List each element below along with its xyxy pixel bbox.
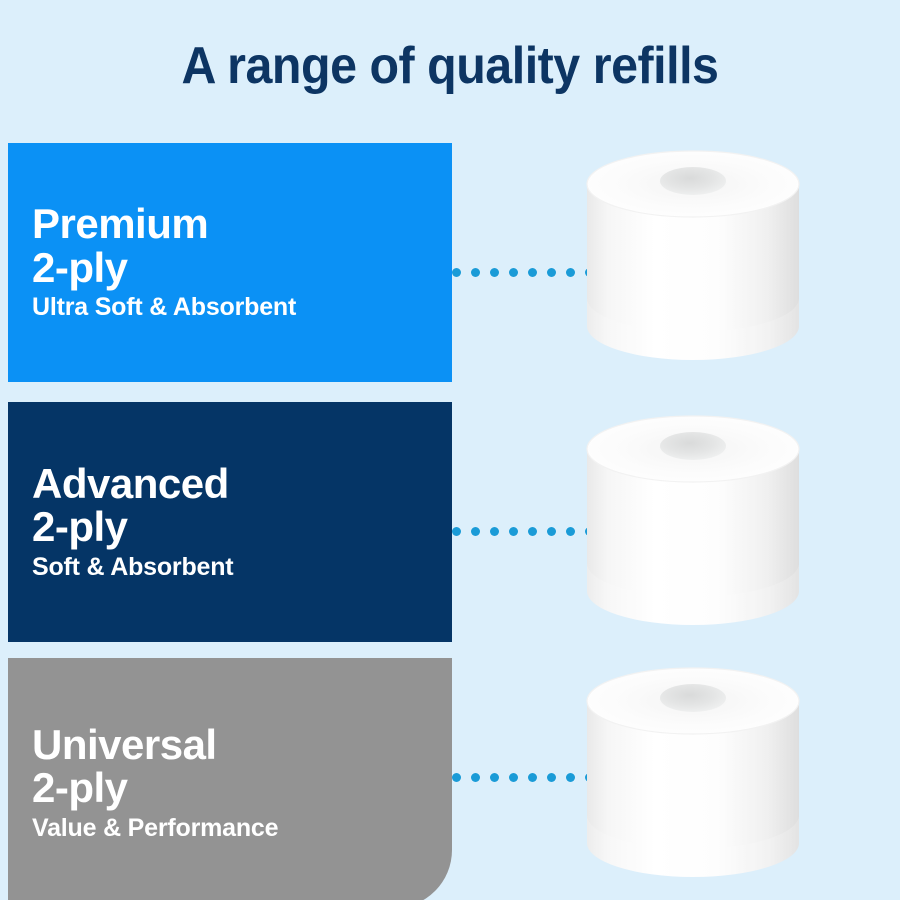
paper-roll-icon-advanced [585,413,801,629]
connector-dot-icon [509,527,518,536]
connector-dots-universal [452,773,594,782]
connector-dot-icon [566,268,575,277]
connector-dots-premium [452,268,594,277]
connector-dot-icon [528,268,537,277]
tier-panel-universal: Universal 2-ply Value & Performance [8,658,452,900]
connector-dot-icon [490,773,499,782]
connector-dot-icon [509,773,518,782]
tier-ply-premium: 2-ply [32,246,452,290]
page-title: A range of quality refills [32,36,869,96]
connector-dots-advanced [452,527,594,536]
connector-dot-icon [528,773,537,782]
connector-dot-icon [490,527,499,536]
paper-roll-icon-universal [585,665,801,881]
connector-dot-icon [471,268,480,277]
connector-dot-icon [547,527,556,536]
connector-dot-icon [547,268,556,277]
tier-panel-premium: Premium 2-ply Ultra Soft & Absorbent [8,143,452,382]
connector-dot-icon [452,527,461,536]
infographic-canvas: A range of quality refills Premium 2-ply… [0,0,900,900]
tier-name-universal: Universal [32,724,452,767]
connector-dot-icon [471,527,480,536]
paper-roll-icon-premium [585,148,801,364]
connector-dot-icon [490,268,499,277]
tier-panel-advanced: Advanced 2-ply Soft & Absorbent [8,402,452,642]
connector-dot-icon [547,773,556,782]
tier-name-premium: Premium [32,203,452,246]
tier-ply-universal: 2-ply [32,766,452,810]
connector-dot-icon [452,268,461,277]
tier-description-premium: Ultra Soft & Absorbent [32,293,452,322]
connector-dot-icon [566,773,575,782]
connector-dot-icon [509,268,518,277]
tier-ply-advanced: 2-ply [32,505,452,549]
connector-dot-icon [471,773,480,782]
connector-dot-icon [566,527,575,536]
tier-name-advanced: Advanced [32,463,452,506]
tier-description-advanced: Soft & Absorbent [32,553,452,582]
tier-description-universal: Value & Performance [32,814,452,843]
connector-dot-icon [528,527,537,536]
connector-dot-icon [452,773,461,782]
